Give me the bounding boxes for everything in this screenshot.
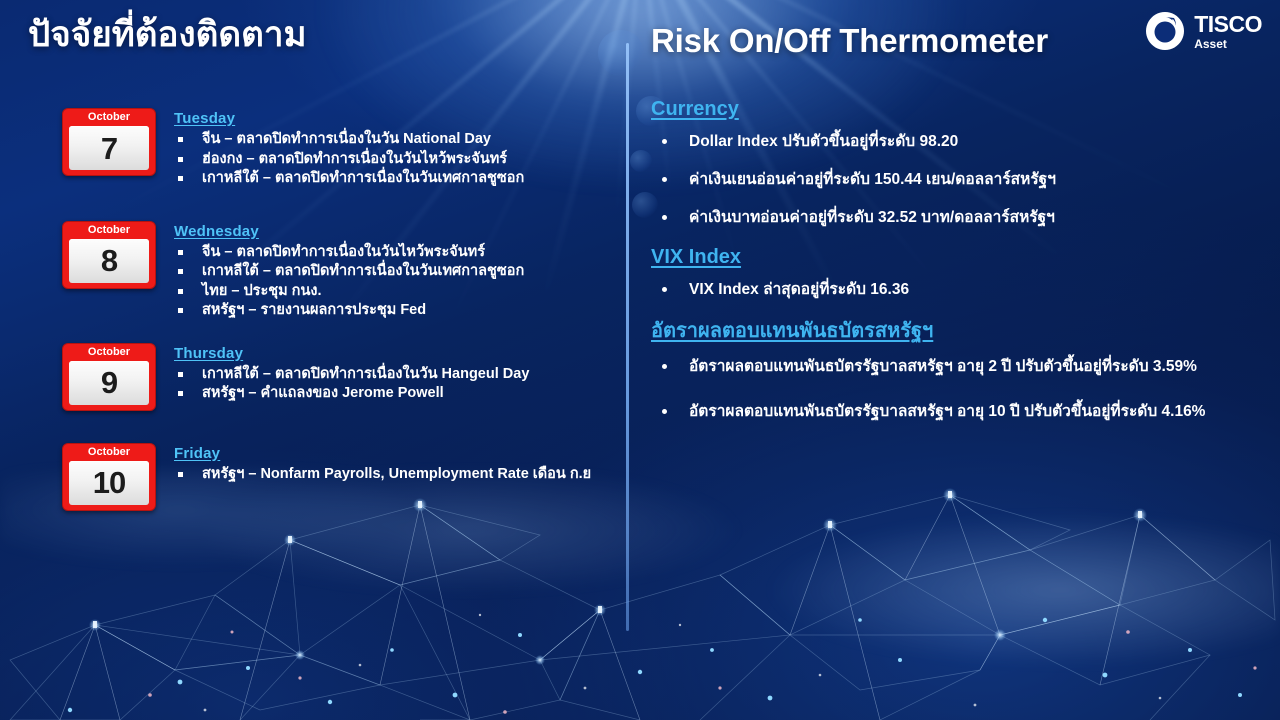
calendar-icon: October 9 — [62, 343, 156, 411]
calendar-icon: October 10 — [62, 443, 156, 511]
weekday-label: Wednesday — [174, 223, 524, 240]
list-item: ค่าเงินเยนอ่อนค่าอยู่ที่ระดับ 150.44 เยน… — [651, 169, 1251, 190]
day-details: Friday สหรัฐฯ – Nonfarm Payrolls, Unempl… — [174, 443, 591, 485]
slide-canvas: ปัจจัยที่ต้องติดตาม Risk On/Off Thermome… — [0, 0, 1280, 720]
section-heading: VIX Index — [651, 246, 1251, 269]
column-divider — [626, 43, 629, 631]
calendar-month-label: October — [63, 109, 155, 125]
event-bullet-list: สหรัฐฯ – Nonfarm Payrolls, Unemployment … — [174, 465, 591, 485]
calendar-events-list: October 7 Tuesday จีน – ตลาดปิดทำการเนื่… — [0, 108, 626, 511]
bokeh-circle — [598, 30, 644, 76]
list-item: สหรัฐฯ – Nonfarm Payrolls, Unemployment … — [174, 465, 591, 485]
day-details: Wednesday จีน – ตลาดปิดทำการเนื่องในวันไ… — [174, 221, 524, 321]
calendar-icon: October 7 — [62, 108, 156, 176]
calendar-month-label: October — [63, 444, 155, 460]
section-heading: Currency — [651, 98, 1251, 121]
list-item: เกาหลีใต้ – ตลาดปิดทำการเนื่องในวันเทศกา… — [174, 262, 524, 282]
list-item: สหรัฐฯ – รายงานผลการประชุม Fed — [174, 301, 524, 321]
section-bullet-list: Dollar Index ปรับตัวขึ้นอยู่ที่ระดับ 98.… — [651, 131, 1251, 228]
calendar-month-label: October — [63, 222, 155, 238]
calendar-day-number: 10 — [93, 467, 125, 498]
calendar-day-number: 7 — [101, 133, 117, 164]
day-details: Thursday เกาหลีใต้ – ตลาดปิดทำการเนื่องใ… — [174, 343, 529, 404]
list-item: เกาหลีใต้ – ตลาดปิดทำการเนื่องในวันเทศกา… — [174, 169, 524, 189]
logo-subtitle: Asset — [1194, 38, 1262, 50]
section-bullet-list: VIX Index ล่าสุดอยู่ที่ระดับ 16.36 — [651, 279, 1251, 300]
weekday-label: Friday — [174, 445, 591, 462]
calendar-icon: October 8 — [62, 221, 156, 289]
logo-name: TISCO — [1194, 13, 1262, 36]
list-item: ฮ่องกง – ตลาดปิดทำการเนื่องในวันไหว้พระจ… — [174, 150, 524, 170]
calendar-month-label: October — [63, 344, 155, 360]
list-item: Dollar Index ปรับตัวขึ้นอยู่ที่ระดับ 98.… — [651, 131, 1251, 152]
page-title-left: ปัจจัยที่ต้องติดตาม — [28, 14, 307, 56]
list-item: จีน – ตลาดปิดทำการเนื่องในวัน National D… — [174, 130, 524, 150]
calendar-day-number: 8 — [101, 245, 117, 276]
event-bullet-list: จีน – ตลาดปิดทำการเนื่องในวัน National D… — [174, 130, 524, 189]
list-item: อัตราผลตอบแทนพันธบัตรรัฐบาลสหรัฐฯ อายุ 2… — [651, 356, 1216, 377]
list-item: อัตราผลตอบแทนพันธบัตรรัฐบาลสหรัฐฯ อายุ 1… — [651, 401, 1216, 422]
list-item: จีน – ตลาดปิดทำการเนื่องในวันไหว้พระจันท… — [174, 243, 524, 263]
thermometer-sections: Currency Dollar Index ปรับตัวขึ้นอยู่ที่… — [651, 98, 1251, 434]
list-item: October 7 Tuesday จีน – ตลาดปิดทำการเนื่… — [0, 108, 626, 189]
calendar-face: 10 — [69, 461, 149, 505]
section-heading: อัตราผลตอบแทนพันธบัตรสหรัฐฯ — [651, 314, 1251, 346]
bokeh-circle — [630, 150, 652, 172]
tisco-asset-logo: TISCO Asset — [1144, 10, 1262, 52]
section-bullet-list: อัตราผลตอบแทนพันธบัตรรัฐบาลสหรัฐฯ อายุ 2… — [651, 356, 1216, 422]
section-us-bond-yields: อัตราผลตอบแทนพันธบัตรสหรัฐฯ อัตราผลตอบแท… — [651, 314, 1251, 422]
list-item: ไทย – ประชุม กนง. — [174, 282, 524, 302]
list-item: VIX Index ล่าสุดอยู่ที่ระดับ 16.36 — [651, 279, 1251, 300]
list-item: October 8 Wednesday จีน – ตลาดปิดทำการเน… — [0, 221, 626, 321]
list-item: เกาหลีใต้ – ตลาดปิดทำการเนื่องในวัน Hang… — [174, 365, 529, 385]
section-vix-index: VIX Index VIX Index ล่าสุดอยู่ที่ระดับ 1… — [651, 246, 1251, 300]
list-item: October 9 Thursday เกาหลีใต้ – ตลาดปิดทำ… — [0, 343, 626, 411]
calendar-day-number: 9 — [101, 367, 117, 398]
list-item: ค่าเงินบาทอ่อนค่าอยู่ที่ระดับ 32.52 บาท/… — [651, 207, 1251, 228]
list-item: สหรัฐฯ – คำแถลงของ Jerome Powell — [174, 384, 529, 404]
logo-wordmark: TISCO Asset — [1194, 13, 1262, 50]
page-title-right: Risk On/Off Thermometer — [651, 22, 1048, 60]
calendar-face: 9 — [69, 361, 149, 405]
section-currency: Currency Dollar Index ปรับตัวขึ้นอยู่ที่… — [651, 98, 1251, 228]
calendar-face: 8 — [69, 239, 149, 283]
weekday-label: Thursday — [174, 345, 529, 362]
event-bullet-list: จีน – ตลาดปิดทำการเนื่องในวันไหว้พระจันท… — [174, 243, 524, 321]
list-item: October 10 Friday สหรัฐฯ – Nonfarm Payro… — [0, 443, 626, 511]
calendar-face: 7 — [69, 126, 149, 170]
weekday-label: Tuesday — [174, 110, 524, 127]
tisco-ring-icon — [1144, 10, 1186, 52]
event-bullet-list: เกาหลีใต้ – ตลาดปิดทำการเนื่องในวัน Hang… — [174, 365, 529, 404]
day-details: Tuesday จีน – ตลาดปิดทำการเนื่องในวัน Na… — [174, 108, 524, 189]
